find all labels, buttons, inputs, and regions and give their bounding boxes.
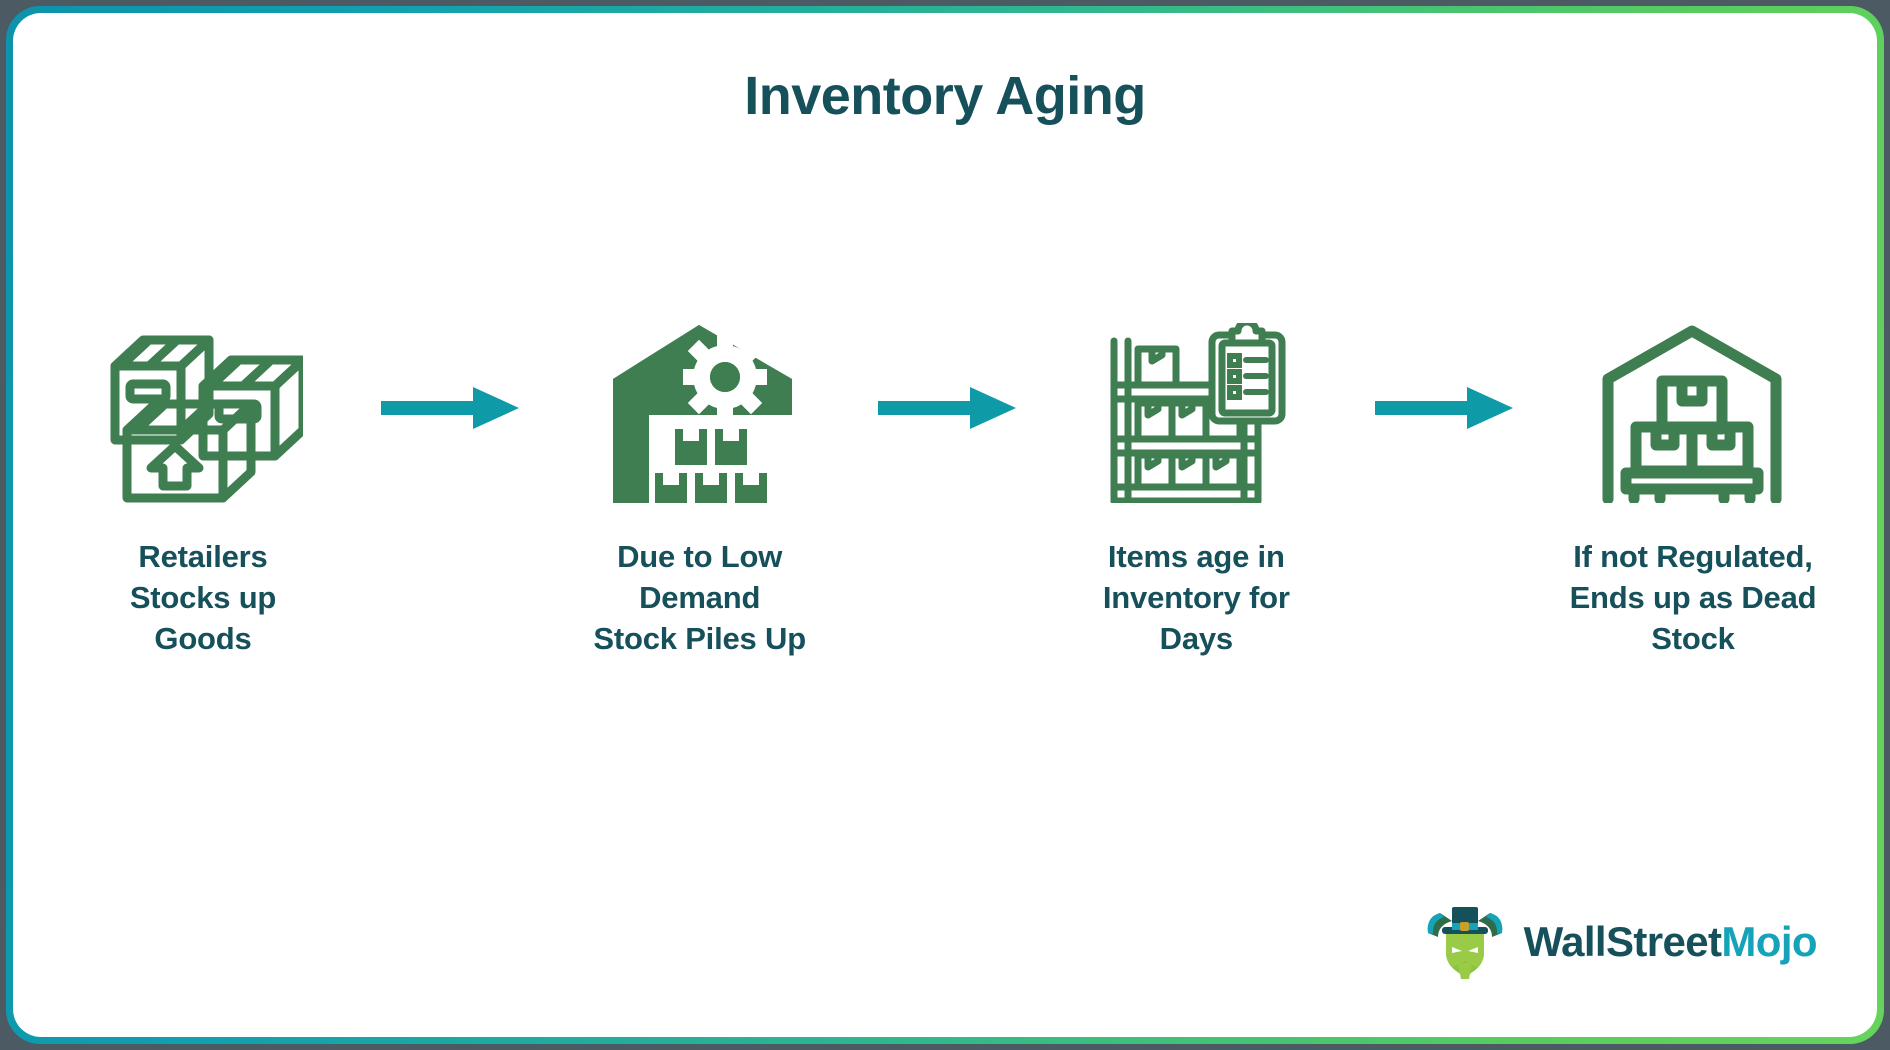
shelf-rack-clipboard-icon bbox=[1104, 313, 1289, 503]
brand-name-accent: Mojo bbox=[1721, 918, 1817, 965]
flow-arrow-3 bbox=[1370, 313, 1520, 503]
infographic-frame: Inventory Aging bbox=[6, 6, 1884, 1044]
bull-mascot-tophat-icon bbox=[1422, 903, 1508, 981]
flow-step-items-age-in-inventory: Items age in Inventory for Days bbox=[1046, 313, 1346, 660]
right-arrow-icon bbox=[381, 385, 521, 431]
flow-step-label: Due to Low Demand Stock Piles Up bbox=[593, 537, 806, 660]
flow-step-dead-stock: If not Regulated, Ends up as Dead Stock bbox=[1543, 313, 1843, 660]
brand-logo: WallStreetMojo bbox=[1422, 903, 1817, 981]
process-flow: Retailers Stocks up Goods bbox=[53, 313, 1843, 660]
flow-step-label: If not Regulated, Ends up as Dead Stock bbox=[1570, 537, 1817, 660]
flow-step-low-demand-stock-piles: Due to Low Demand Stock Piles Up bbox=[550, 313, 850, 660]
stacked-boxes-icon bbox=[103, 313, 303, 503]
infographic-canvas: Inventory Aging bbox=[13, 13, 1877, 1037]
right-arrow-icon bbox=[878, 385, 1018, 431]
flow-arrow-2 bbox=[873, 313, 1023, 503]
flow-step-label: Items age in Inventory for Days bbox=[1103, 537, 1290, 660]
warehouse-gear-icon bbox=[607, 313, 792, 503]
right-arrow-icon bbox=[1375, 385, 1515, 431]
brand-name-primary: WallStreet bbox=[1524, 918, 1722, 965]
flow-step-label: Retailers Stocks up Goods bbox=[130, 537, 276, 660]
page-title: Inventory Aging bbox=[13, 65, 1877, 127]
flow-step-retailers-stock-up: Retailers Stocks up Goods bbox=[53, 313, 353, 660]
brand-logo-text: WallStreetMojo bbox=[1524, 921, 1817, 963]
flow-arrow-1 bbox=[376, 313, 526, 503]
warehouse-pallet-icon bbox=[1600, 313, 1785, 503]
